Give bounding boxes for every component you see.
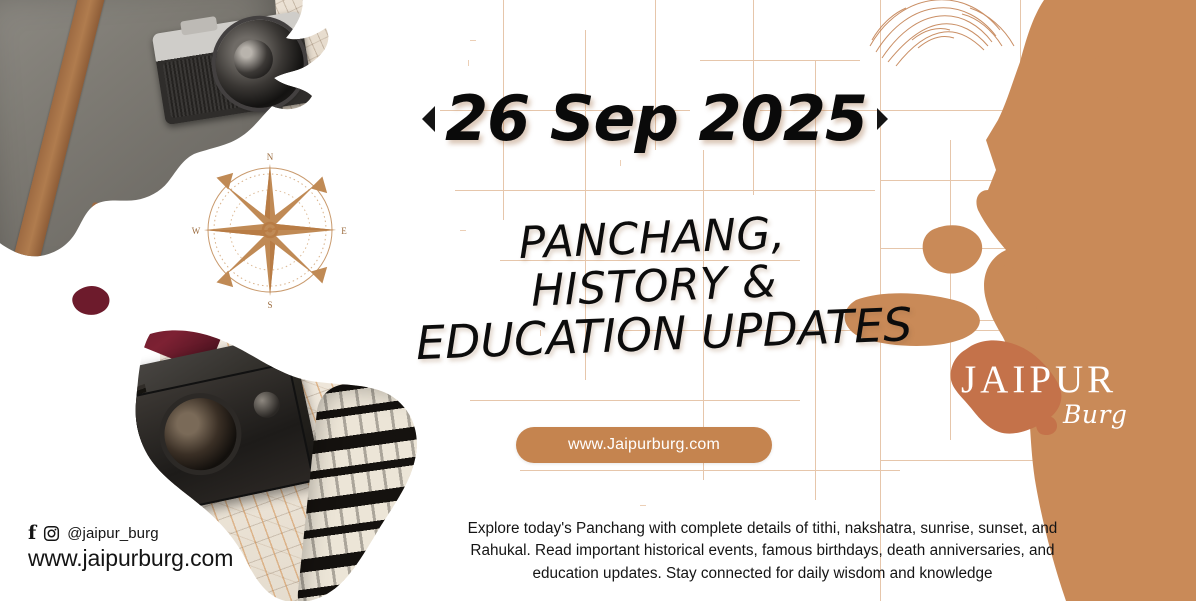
website-pill-button[interactable]: www.Jaipurburg.com	[516, 427, 772, 463]
wave-line-art-icon	[866, 0, 1026, 76]
center-content: 26 Sep 2025 PANCHANG, HISTORY & EDUCATIO…	[420, 0, 890, 601]
facebook-icon[interactable]: f	[28, 524, 36, 543]
compass-west-label: W	[192, 226, 201, 236]
compass-north-label: N	[267, 152, 274, 162]
triangle-right-icon	[877, 108, 888, 130]
jaipurburg-logo: JAIPUR Burg	[945, 338, 1160, 448]
compass-south-label: S	[267, 300, 272, 310]
promo-banner: N E S W 26 Sep 2025 PANCHANG, HISTORY & …	[0, 0, 1196, 601]
compass-east-label: E	[341, 226, 347, 236]
compass-rose-icon: N E S W	[190, 150, 350, 310]
instagram-icon[interactable]	[43, 525, 60, 542]
description-text: Explore today's Panchang with complete d…	[450, 518, 1075, 585]
social-handle-row: f @jaipur_burg	[28, 524, 258, 543]
headline: PANCHANG, HISTORY & EDUCATION UPDATES	[411, 206, 896, 369]
triangle-left-icon	[422, 106, 435, 132]
date-text: 26 Sep 2025	[445, 88, 867, 150]
date-row: 26 Sep 2025	[420, 88, 890, 150]
social-block: f @jaipur_burg www.jaipurburg.com	[28, 524, 258, 572]
website-text[interactable]: www.jaipurburg.com	[28, 545, 258, 572]
logo-script: Burg	[1063, 400, 1127, 429]
social-handle[interactable]: @jaipur_burg	[67, 525, 158, 542]
logo-wordmark: JAIPUR	[961, 360, 1151, 399]
